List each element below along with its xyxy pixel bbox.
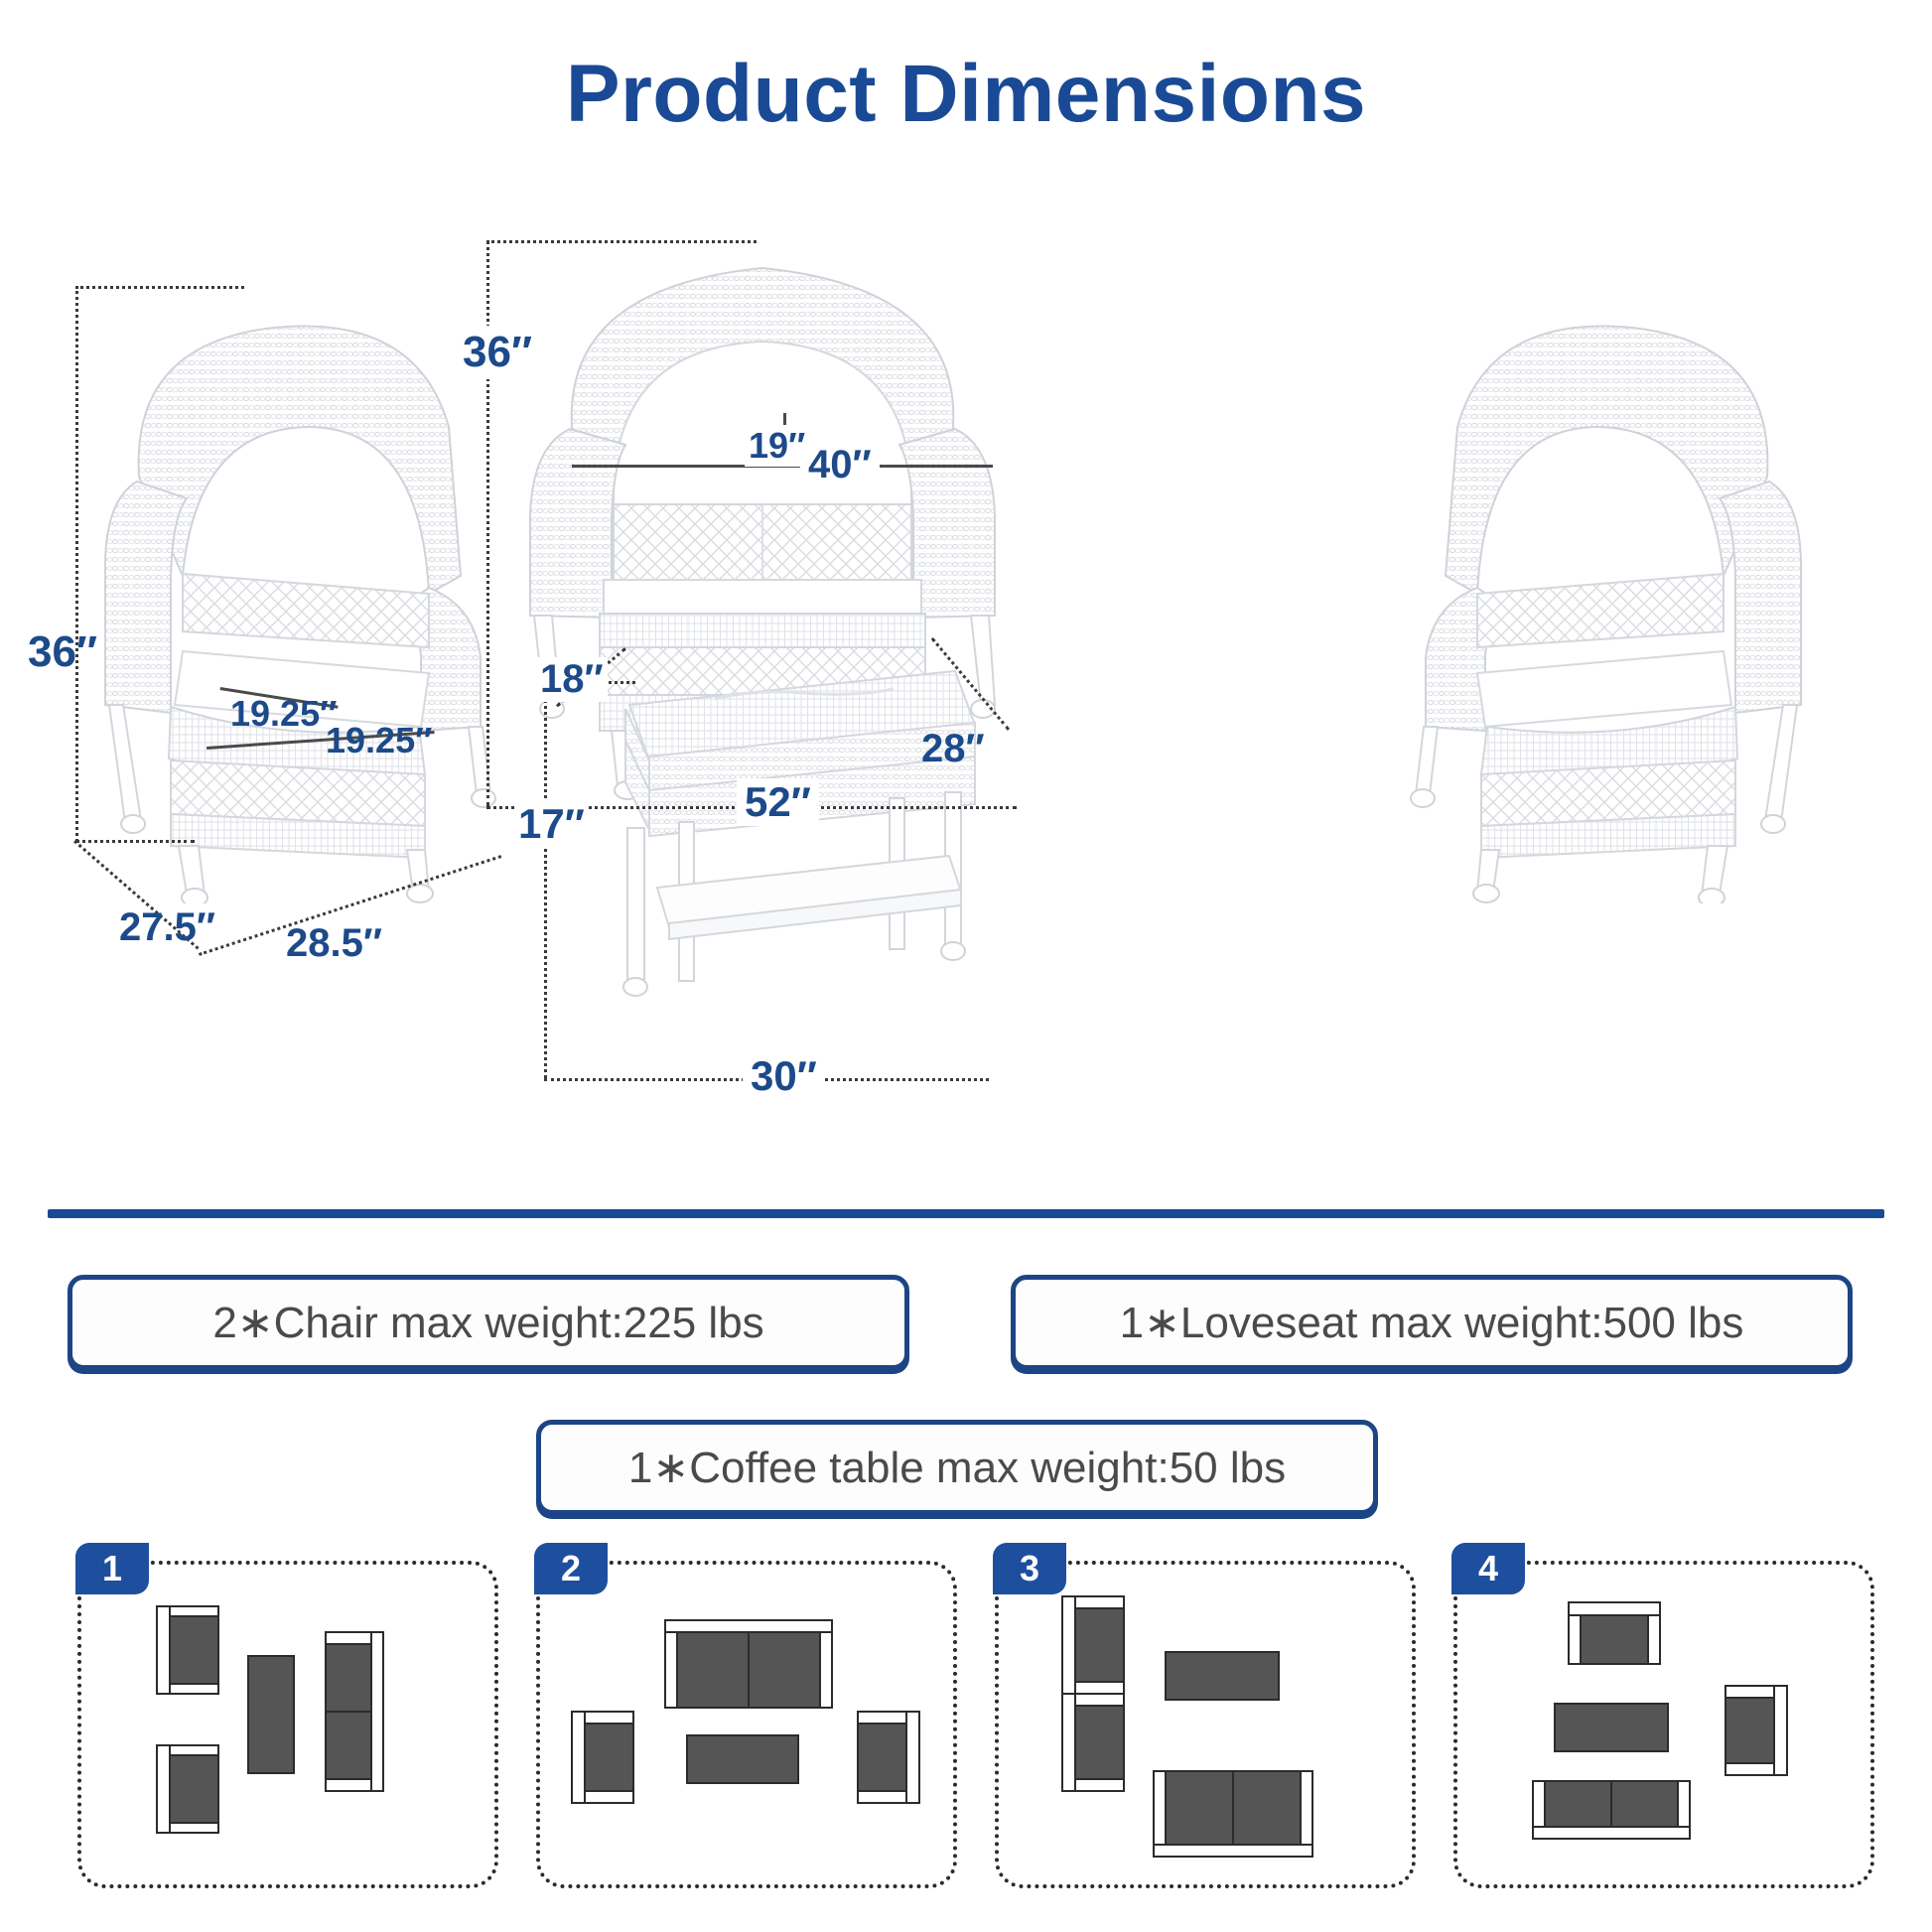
layout-badge-3: 3: [993, 1543, 1066, 1594]
layout-badge-4: 4: [1451, 1543, 1525, 1594]
chair-seat-depth-label: 19.25″: [230, 693, 337, 735]
layout-badge-1: 1: [75, 1543, 149, 1594]
loveseat-width-label: 52″: [737, 778, 819, 826]
coffee-table-max-weight-box: 1∗Coffee table max weight:50 lbs: [536, 1420, 1378, 1515]
page-title: Product Dimensions: [0, 48, 1932, 141]
chair-height-bottom-tick: [75, 840, 195, 843]
chair-depth-label: 27.5″: [119, 905, 215, 950]
chair-max-weight-box: 2∗Chair max weight:225 lbs: [68, 1275, 909, 1370]
coffee-table-height-dimension-line: [544, 681, 547, 1078]
chair-height-label: 36″: [28, 627, 97, 677]
layout-option-2-card[interactable]: 2: [536, 1561, 957, 1888]
loveseat-max-weight-box: 1∗Loveseat max weight:500 lbs: [1011, 1275, 1853, 1370]
loveseat-depth-label: 28″: [921, 727, 985, 771]
layout-badge-2: 2: [534, 1543, 608, 1594]
layout-option-4-card[interactable]: 4: [1453, 1561, 1874, 1888]
dimension-diagram-area: 36″ 19.25″ 19.25″ 27.5″ 28.5″: [0, 169, 1932, 1191]
layout-option-3-card[interactable]: 3: [995, 1561, 1416, 1888]
layout-4-plan: [1457, 1565, 1878, 1892]
chair-height-dimension-line: [75, 286, 78, 842]
loveseat-height-top-tick: [486, 240, 757, 243]
loveseat-height-label: 36″: [459, 326, 536, 379]
loveseat-max-weight-text: 1∗Loveseat max weight:500 lbs: [1120, 1298, 1744, 1348]
layout-2-plan: [540, 1565, 961, 1892]
chair-max-weight-text: 2∗Chair max weight:225 lbs: [212, 1298, 763, 1348]
coffee-table-width-label: 30″: [743, 1052, 825, 1100]
coffee-table-max-weight-text: 1∗Coffee table max weight:50 lbs: [628, 1443, 1286, 1493]
layout-1-plan: [81, 1565, 502, 1892]
chair-height-top-tick: [75, 286, 244, 289]
chair-width-label: 28.5″: [286, 921, 382, 966]
coffee-table-height-label: 17″: [514, 800, 589, 848]
layout-option-1-card[interactable]: 1: [77, 1561, 498, 1888]
chair-left-illustration: [79, 278, 516, 903]
coffee-table-illustration: [566, 647, 1003, 1084]
section-divider: [48, 1209, 1884, 1218]
layout-3-plan: [999, 1565, 1420, 1892]
chair-seat-width-label: 19.25″: [326, 720, 432, 761]
coffee-table-depth-label: 18″: [536, 657, 608, 702]
chair-right-illustration: [1390, 278, 1827, 903]
loveseat-seat-width-label: 40″: [800, 443, 880, 487]
